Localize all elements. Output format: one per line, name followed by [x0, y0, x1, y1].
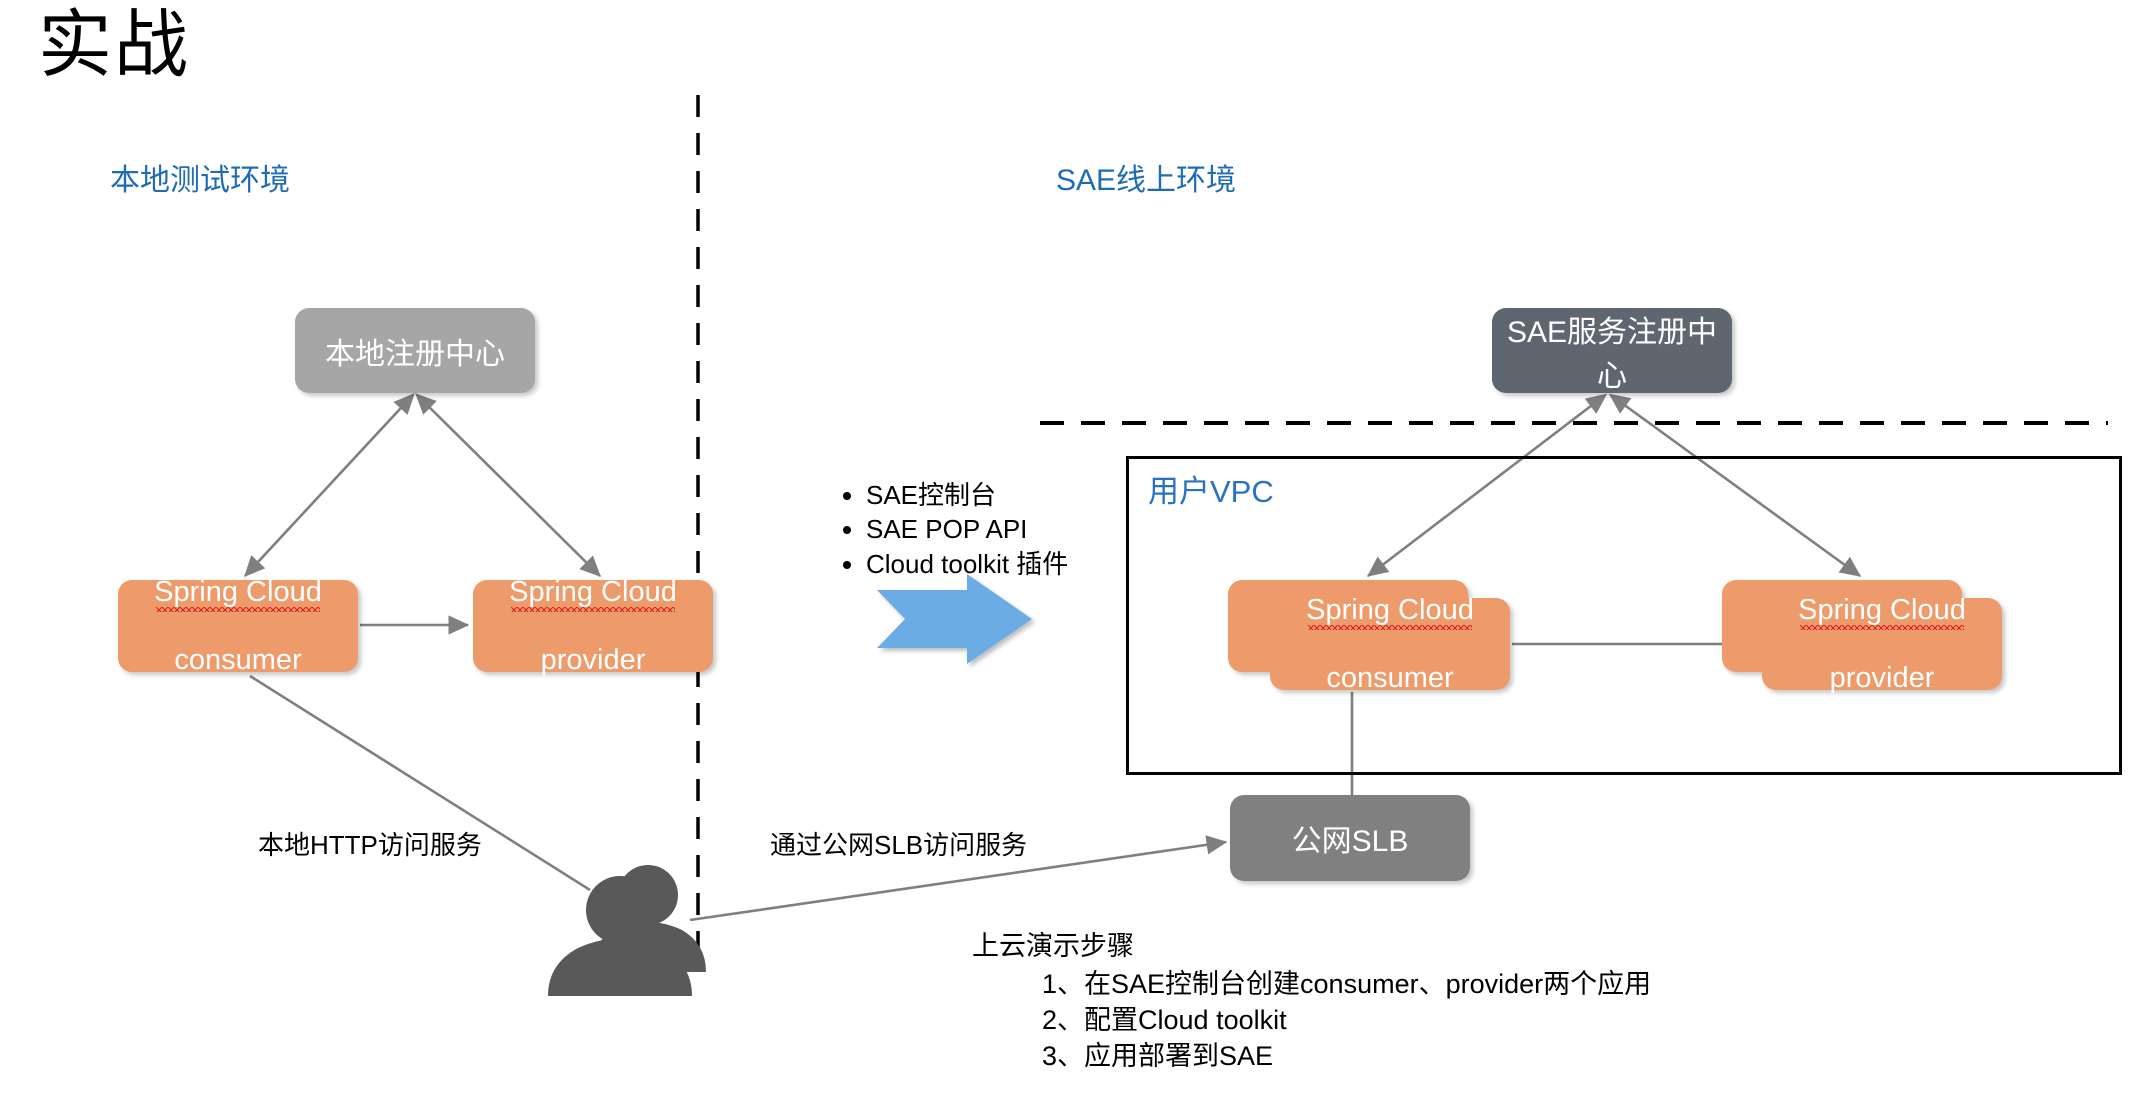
migration-bullet-item: SAE POP API	[866, 512, 1110, 546]
misspelled-word-spring: Spring Cloud	[1306, 593, 1474, 627]
demo-steps-block: 上云演示步骤 1、在SAE控制台创建consumer、provider两个应用 …	[972, 929, 1651, 1075]
migration-bullet-item: SAE控制台	[866, 478, 1110, 512]
slide-canvas: 实战 本地测试环境 SAE线上环境 本地注册中心 Spring Cloud co…	[0, 0, 2154, 1094]
node-public-slb-label: 公网SLB	[1292, 816, 1409, 860]
node-sae-provider-line2: provider	[1798, 661, 1966, 695]
user-group-icon	[548, 865, 706, 996]
demo-steps-heading: 上云演示步骤	[972, 929, 1651, 965]
node-local-consumer-line2: consumer	[154, 643, 322, 677]
node-sae-consumer-line2: consumer	[1306, 661, 1474, 695]
migration-bullet-item: Cloud toolkit 插件	[866, 547, 1110, 581]
caption-slb-access: 通过公网SLB访问服务	[770, 825, 1027, 862]
node-public-slb[interactable]: 公网SLB	[1230, 795, 1470, 881]
demo-step-item: 2、配置Cloud toolkit	[972, 1003, 1651, 1039]
migration-bullet-list: SAE控制台 SAE POP API Cloud toolkit 插件	[840, 478, 1110, 581]
node-sae-provider-text: Spring Cloud provider	[1798, 593, 1966, 696]
node-local-registry[interactable]: 本地注册中心	[295, 308, 535, 393]
connector-local-registry-to-consumer	[245, 396, 412, 576]
demo-step-item: 1、在SAE控制台创建consumer、provider两个应用	[972, 967, 1651, 1003]
node-local-spring-cloud-consumer[interactable]: Spring Cloud consumer	[118, 580, 358, 672]
node-local-consumer-text: Spring Cloud consumer	[154, 575, 322, 678]
node-local-registry-label: 本地注册中心	[325, 329, 505, 373]
user-vpc-label: 用户VPC	[1148, 466, 1274, 511]
node-sae-service-registry[interactable]: SAE服务注册中心	[1492, 308, 1732, 393]
section-label-sae-env: SAE线上环境	[1056, 155, 1236, 199]
migration-arrow-icon	[877, 574, 1032, 664]
node-sae-consumer-text: Spring Cloud consumer	[1306, 593, 1474, 696]
node-local-provider-line2: provider	[509, 643, 677, 677]
node-sae-spring-cloud-provider[interactable]: Spring Cloud provider	[1762, 598, 2002, 690]
caption-local-http-access: 本地HTTP访问服务	[258, 825, 482, 862]
node-local-spring-cloud-provider[interactable]: Spring Cloud provider	[473, 580, 713, 672]
node-local-provider-text: Spring Cloud provider	[509, 575, 677, 678]
node-sae-registry-label: SAE服务注册中心	[1492, 307, 1732, 395]
misspelled-word-spring: Spring Cloud	[1798, 593, 1966, 627]
connector-local-registry-to-provider	[418, 396, 600, 576]
misspelled-word-spring: Spring Cloud	[509, 575, 677, 609]
node-sae-spring-cloud-consumer[interactable]: Spring Cloud consumer	[1270, 598, 1510, 690]
slide-title: 实战	[38, 8, 190, 82]
demo-step-item: 3、应用部署到SAE	[972, 1039, 1651, 1075]
misspelled-word-spring: Spring Cloud	[154, 575, 322, 609]
section-label-local-env: 本地测试环境	[110, 155, 290, 199]
